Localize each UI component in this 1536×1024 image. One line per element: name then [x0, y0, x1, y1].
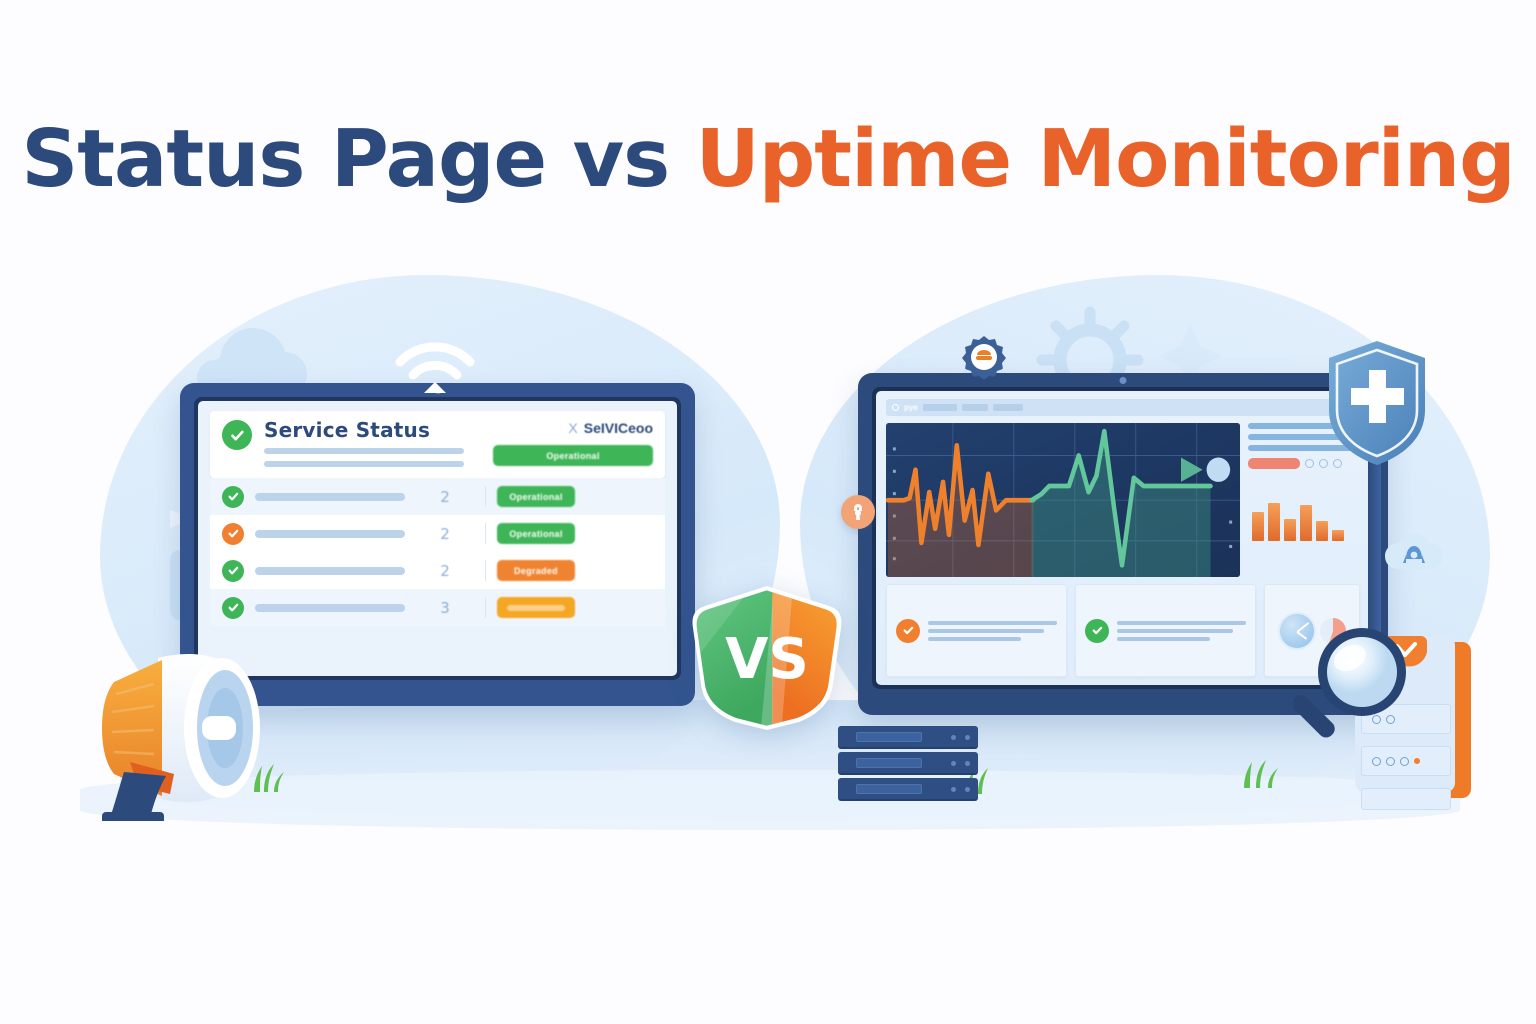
check-circle-icon: [1085, 619, 1109, 643]
status-page-screen: Service Status X SeIVICeoo Operational: [198, 401, 677, 676]
status-card[interactable]: [1075, 584, 1256, 677]
shield-health-icon: [1325, 338, 1430, 468]
lock-icon: [849, 502, 867, 522]
megaphone-icon: [62, 636, 317, 821]
lock-badge-icon: [841, 495, 875, 529]
title-part-primary: Status Page vs: [21, 113, 695, 205]
status-card[interactable]: [886, 584, 1067, 677]
check-circle-icon: [896, 619, 920, 643]
row-check-icon: [222, 486, 244, 508]
row-label-placeholder: [255, 530, 405, 538]
bar: [1316, 521, 1328, 541]
row-check-icon: [222, 523, 244, 545]
header-check-icon: [222, 420, 252, 450]
metric-ring-icon: [1305, 459, 1314, 468]
placeholder-bar: [264, 461, 464, 467]
row-label-placeholder: [255, 493, 405, 501]
brand-mark: X: [568, 420, 577, 436]
brand-text: SeIVICeoo: [584, 420, 653, 436]
magnifying-glass-icon: [1282, 620, 1417, 755]
row-status-pill[interactable]: Operational: [497, 486, 575, 507]
webcam-dot: [1120, 377, 1127, 384]
bar: [1268, 503, 1280, 541]
page-title: Status Page vs Uptime Monitoring: [0, 120, 1536, 199]
row-label-placeholder: [255, 567, 405, 575]
latency-chart: [886, 423, 1240, 577]
gear-badge-icon: [962, 335, 1006, 379]
table-row[interactable]: 2 Degraded: [210, 552, 665, 589]
table-row[interactable]: 3: [210, 589, 665, 626]
dashboard-topbar-label: pye: [904, 403, 918, 412]
vs-shield-icon: VS: [683, 580, 851, 732]
status-page-header: Service Status X SeIVICeoo Operational: [210, 411, 665, 478]
row-check-icon: [222, 560, 244, 582]
table-row[interactable]: 2 Operational: [210, 515, 665, 552]
status-indicator-icon: [892, 404, 899, 411]
vs-label: VS: [725, 627, 809, 692]
latency-chart-svg: [886, 423, 1240, 577]
row-divider: [485, 560, 486, 581]
row-value: 3: [416, 599, 474, 617]
row-check-icon: [222, 597, 244, 619]
checks-bar-chart: [1248, 479, 1360, 541]
annotation-dot: [1207, 458, 1231, 482]
row-status-pill[interactable]: [497, 597, 575, 618]
bar: [1332, 530, 1344, 541]
row-status-pill[interactable]: Operational: [497, 523, 575, 544]
bar: [1300, 505, 1312, 541]
status-page-title: Service Status: [264, 420, 481, 441]
row-divider: [485, 523, 486, 544]
row-divider: [485, 597, 486, 618]
rocket-cloud-badge-icon: [1383, 533, 1445, 591]
row-status-pill[interactable]: Degraded: [497, 560, 575, 581]
grass-tuft-right: [1238, 760, 1282, 788]
wifi-icon: [392, 336, 478, 398]
placeholder-bar: [264, 448, 464, 454]
metric-highlight-bar: [1248, 458, 1300, 469]
bar: [1252, 512, 1264, 541]
row-value: 2: [416, 525, 474, 543]
bar: [1284, 519, 1296, 541]
row-value: 2: [416, 488, 474, 506]
dashboard-topbar: pye: [886, 399, 1360, 416]
title-part-accent: Uptime Monitoring: [696, 113, 1515, 205]
brand-logo: X SeIVICeoo: [493, 420, 653, 436]
header-status-pill[interactable]: Operational: [493, 445, 653, 466]
server-stack-icon: [838, 726, 986, 804]
row-label-placeholder: [255, 604, 405, 612]
row-divider: [485, 486, 486, 507]
vs-badge: VS: [683, 580, 851, 732]
illustration-canvas: Status Page vs Uptime Monitoring: [0, 0, 1536, 1024]
row-value: 2: [416, 562, 474, 580]
table-row[interactable]: 2 Operational: [210, 478, 665, 515]
